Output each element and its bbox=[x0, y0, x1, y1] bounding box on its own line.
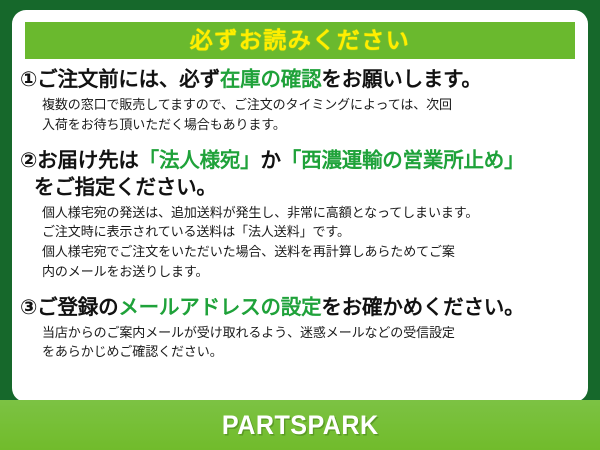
section-1-heading-highlight: 在庫の確認 bbox=[220, 68, 322, 91]
section-3-heading-highlight: メールアドレスの設定 bbox=[118, 296, 321, 319]
section-2-number: ② bbox=[20, 149, 37, 172]
section-2-body-line-3: 個人様宅宛でご注文をいただいた場合、送料を再計算しあらためてご案 bbox=[42, 242, 580, 262]
section-2-body-line-1: 個人様宅宛の発送は、追加送料が発生し、非常に高額となってしまいます。 bbox=[42, 203, 580, 223]
footer-band: PARTSPARK bbox=[0, 400, 600, 450]
section-2-body-line-4: 内のメールをお送りします。 bbox=[42, 262, 580, 282]
section-1-body-line-1: 複数の窓口で販売してますので、ご注文のタイミングによっては、次回 bbox=[42, 95, 580, 115]
section-2-heading: ②お届け先は「法人様宛」か「西濃運輸の営業所止め」 bbox=[20, 147, 580, 174]
section-1-heading: ①ご注文前には、必ず在庫の確認をお願いします。 bbox=[20, 66, 580, 93]
section-3-body: 当店からのご案内メールが受け取れるよう、迷惑メールなどの受信設定 をあらかじめご… bbox=[20, 323, 580, 363]
section-1-number: ① bbox=[20, 68, 37, 91]
section-2-body: 個人様宅宛の発送は、追加送料が発生し、非常に高額となってしまいます。 ご注文時に… bbox=[20, 203, 580, 282]
section-1-body-line-2: 入荷をお待ち頂いただく場合もあります。 bbox=[42, 115, 580, 135]
section-1-body: 複数の窓口で販売してますので、ご注文のタイミングによっては、次回 入荷をお待ち頂… bbox=[20, 95, 580, 135]
content-panel: 必ずお読みください ①ご注文前には、必ず在庫の確認をお願いします。 複数の窓口で… bbox=[12, 10, 588, 402]
section-2-heading-highlight-2: 「西濃運輸の営業所止め」 bbox=[281, 149, 525, 172]
brand-logo-text: PARTSPARK bbox=[222, 410, 379, 441]
notice-section-1: ①ご注文前には、必ず在庫の確認をお願いします。 複数の窓口で販売してますので、ご… bbox=[12, 66, 588, 135]
notice-card: 必ずお読みください ①ご注文前には、必ず在庫の確認をお願いします。 複数の窓口で… bbox=[0, 0, 600, 450]
section-2-heading-line-2: をご指定ください。 bbox=[20, 174, 580, 201]
notice-section-3: ③ご登録のメールアドレスの設定をお確かめください。 当店からのご案内メールが受け… bbox=[12, 294, 588, 363]
section-2-body-line-2: ご注文時に表示されている送料は「法人送料」です。 bbox=[42, 222, 580, 242]
section-2-heading-highlight-1: 「法人様宛」 bbox=[139, 149, 261, 172]
title-banner: 必ずお読みください bbox=[25, 22, 575, 59]
section-3-number: ③ bbox=[20, 296, 37, 319]
notice-section-2: ②お届け先は「法人様宛」か「西濃運輸の営業所止め」 をご指定ください。 個人様宅… bbox=[12, 147, 588, 282]
section-3-heading: ③ご登録のメールアドレスの設定をお確かめください。 bbox=[20, 294, 580, 321]
section-3-heading-part-3: をお確かめください。 bbox=[321, 296, 524, 319]
page-title: 必ずお読みください bbox=[190, 29, 411, 52]
section-1-heading-part-3: をお願いします。 bbox=[321, 68, 481, 91]
section-3-heading-part-1: ご登録の bbox=[37, 296, 118, 319]
section-3-body-line-1: 当店からのご案内メールが受け取れるよう、迷惑メールなどの受信設定 bbox=[42, 323, 580, 343]
section-3-body-line-2: をあらかじめご確認ください。 bbox=[42, 342, 580, 362]
sections-container: ①ご注文前には、必ず在庫の確認をお願いします。 複数の窓口で販売してますので、ご… bbox=[12, 66, 588, 362]
section-2-heading-part-1: お届け先は bbox=[37, 149, 139, 172]
section-2-heading-part-3: か bbox=[260, 149, 280, 172]
section-1-heading-part-1: ご注文前には、必ず bbox=[37, 68, 220, 91]
